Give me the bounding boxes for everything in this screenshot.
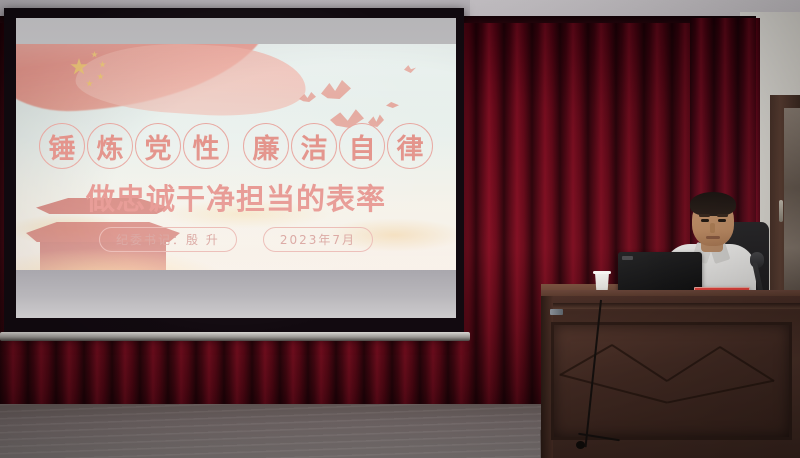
podium-label-plate <box>550 309 563 315</box>
projector-bottom-band <box>16 270 456 318</box>
speaker-pill: 纪委书记：殷 升 <box>99 227 237 252</box>
title-char: 律 <box>387 123 433 169</box>
nose <box>710 223 715 233</box>
date-pill: 2023年7月 <box>263 227 373 252</box>
conference-room-photo: 锤 炼 党 性 廉 洁 自 律 做忠诚干净担当的表率 纪委书记：殷 升 2023… <box>0 0 800 458</box>
slide-meta-row: 纪委书记：殷 升 2023年7月 <box>32 226 440 252</box>
title-char: 自 <box>339 123 385 169</box>
eye-right <box>718 219 726 222</box>
floor-texture <box>0 404 560 458</box>
slide-title: 锤 炼 党 性 廉 洁 自 律 <box>32 120 440 172</box>
projection-screen-surface: 锤 炼 党 性 廉 洁 自 律 做忠诚干净担当的表率 纪委书记：殷 升 2023… <box>16 18 456 318</box>
podium-ledge <box>541 303 800 309</box>
projection-screen-bottom-bar <box>0 332 470 341</box>
cable-plug <box>576 441 585 449</box>
projector-top-band <box>16 18 456 44</box>
title-char: 锤 <box>39 123 85 169</box>
paper-cup-rim <box>593 271 611 274</box>
title-char: 廉 <box>243 123 289 169</box>
eye-left <box>701 219 709 222</box>
mouth <box>706 236 720 239</box>
title-char: 性 <box>183 123 229 169</box>
eyebrow-left <box>699 214 710 217</box>
title-char: 洁 <box>291 123 337 169</box>
title-char: 党 <box>135 123 181 169</box>
door-glass-panel <box>784 108 800 308</box>
door-handle[interactable] <box>779 200 783 222</box>
eyebrow-right <box>717 214 728 217</box>
presenter-hair <box>690 192 736 216</box>
laptop-logo-icon <box>622 256 633 260</box>
slide-subtitle: 做忠诚干净担当的表率 <box>32 176 440 218</box>
title-char: 炼 <box>87 123 133 169</box>
